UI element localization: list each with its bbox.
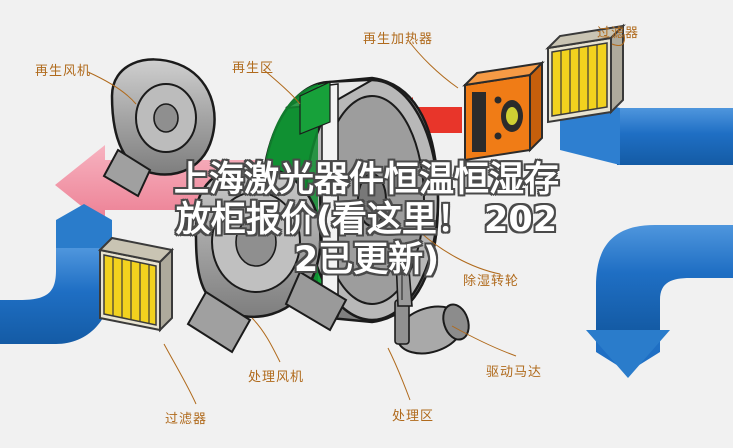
label-regen-heater: 再生加热器 <box>363 28 433 47</box>
overlay-title-line-2: 放柜报价(看这里！ 202 <box>40 200 693 240</box>
label-filter-top: 过滤器 <box>597 22 639 41</box>
overlay-title-line-1: 上海激光器件恒温恒湿存 <box>40 160 693 200</box>
diagram-stage: 再生风机 再生区 再生加热器 过滤器 除湿转轮 驱动马达 处理风机 处理区 过滤… <box>0 0 733 448</box>
label-process-zone: 处理区 <box>392 405 434 424</box>
regen-heater-unit <box>465 63 542 160</box>
label-drive-motor: 驱动马达 <box>486 361 542 380</box>
overlay-title: 上海激光器件恒温恒湿存 放柜报价(看这里！ 202 2已更新) <box>0 160 733 280</box>
label-process-fan: 处理风机 <box>248 366 304 385</box>
label-regen-fan: 再生风机 <box>35 60 91 79</box>
overlay-title-line-3: 2已更新) <box>40 240 693 280</box>
label-filter-bottom: 过滤器 <box>165 408 207 427</box>
label-regen-zone: 再生区 <box>232 57 274 76</box>
